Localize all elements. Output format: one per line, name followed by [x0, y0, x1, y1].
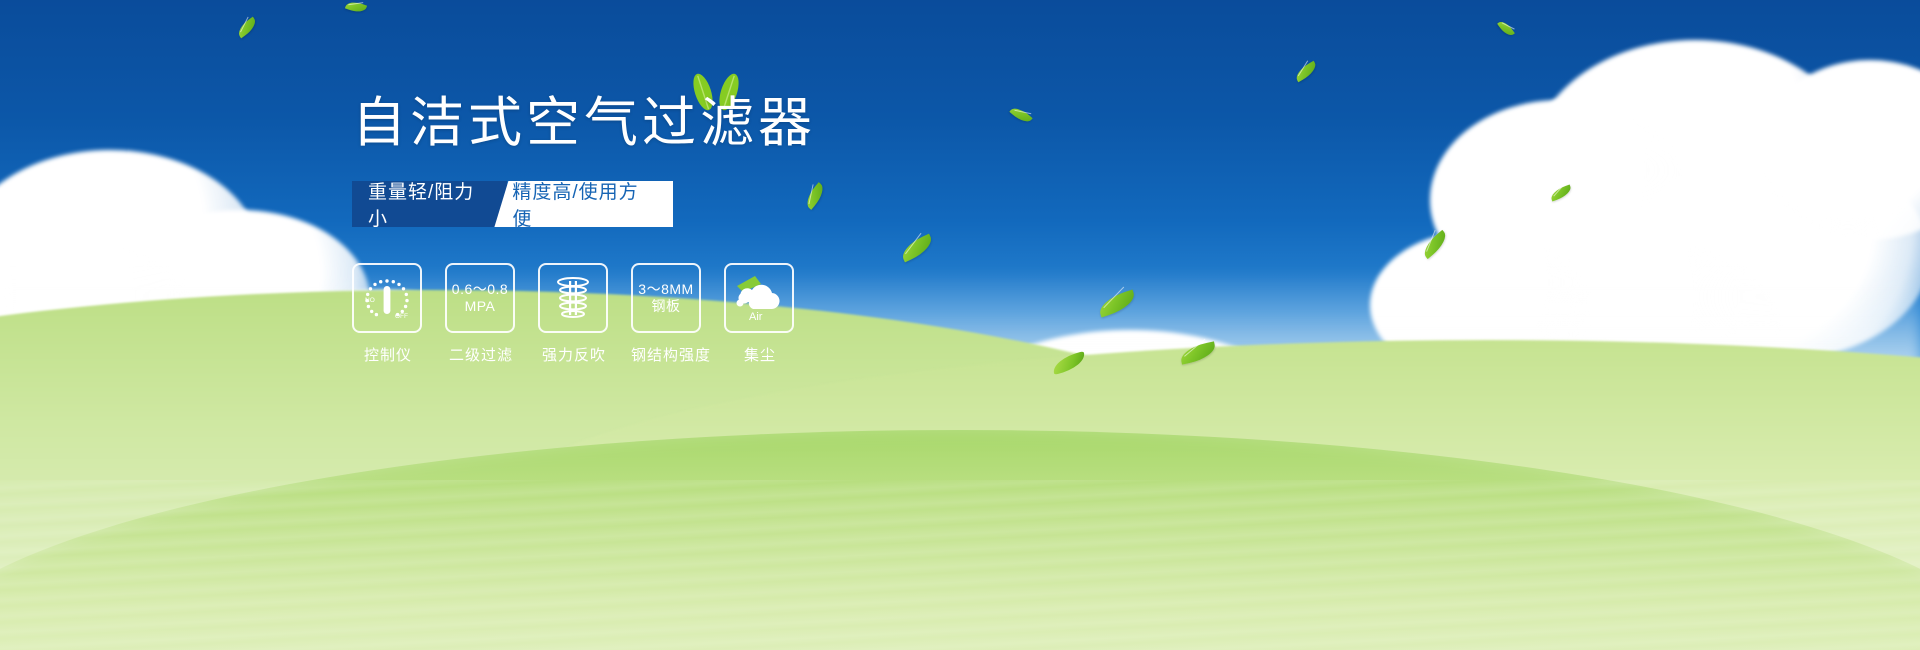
feature-list: NO OFF 控制仪 0.6～0.8 MPA 二级过滤: [352, 263, 1052, 365]
page-title: 自洁式空气过滤器: [352, 96, 1052, 150]
feature-dust-collection[interactable]: Air 集尘: [724, 263, 796, 365]
pressure-value: 0.6～0.8: [452, 281, 508, 298]
feature-controller-box: NO OFF: [352, 263, 422, 333]
subtitle-badges: 重量轻/阻力小 精度高/使用方便: [352, 181, 673, 227]
feature-secondary-filtration[interactable]: 0.6～0.8 MPA 二级过滤: [445, 263, 517, 365]
feature-backblow-box: [538, 263, 608, 333]
steel-material: 钢板: [638, 298, 693, 315]
air-cloud-icon: Air: [731, 272, 787, 324]
dial-label-off: OFF: [395, 313, 408, 320]
steel-plate-text-icon: 3～8MM 钢板: [638, 281, 693, 315]
grass-texture: [0, 480, 1920, 650]
feature-pressure-box: 0.6～0.8 MPA: [445, 263, 515, 333]
feature-strong-backblow-label: 强力反吹: [538, 344, 610, 365]
pressure-text-icon: 0.6～0.8 MPA: [452, 281, 508, 315]
feature-dust-collection-label: 集尘: [724, 344, 796, 365]
badge-high-precision-easy-use[interactable]: 精度高/使用方便: [494, 181, 673, 227]
steel-thickness: 3～8MM: [638, 281, 693, 298]
feature-steel-structure[interactable]: 3～8MM 钢板 钢结构强度: [631, 263, 703, 365]
feature-controller-label: 控制仪: [352, 344, 424, 365]
feature-strong-backblow[interactable]: 强力反吹: [538, 263, 610, 365]
air-label: Air: [749, 311, 763, 323]
pressure-unit: MPA: [452, 298, 508, 315]
feature-controller[interactable]: NO OFF 控制仪: [352, 263, 424, 365]
feature-dust-box: Air: [724, 263, 794, 333]
banner-content: 自洁式空气过滤器 重量轻/阻力小 精度高/使用方便: [352, 96, 1052, 365]
dial-label-no: NO: [365, 297, 375, 304]
badge-lightweight-low-resistance[interactable]: 重量轻/阻力小: [352, 181, 507, 227]
gauge-dial-icon: NO OFF: [362, 275, 412, 321]
filter-coil-icon: [550, 274, 596, 322]
feature-secondary-filtration-label: 二级过滤: [445, 344, 517, 365]
product-banner: 自洁式空气过滤器 重量轻/阻力小 精度高/使用方便: [0, 0, 1920, 650]
feature-steel-box: 3～8MM 钢板: [631, 263, 701, 333]
feature-steel-structure-label: 钢结构强度: [631, 344, 703, 365]
